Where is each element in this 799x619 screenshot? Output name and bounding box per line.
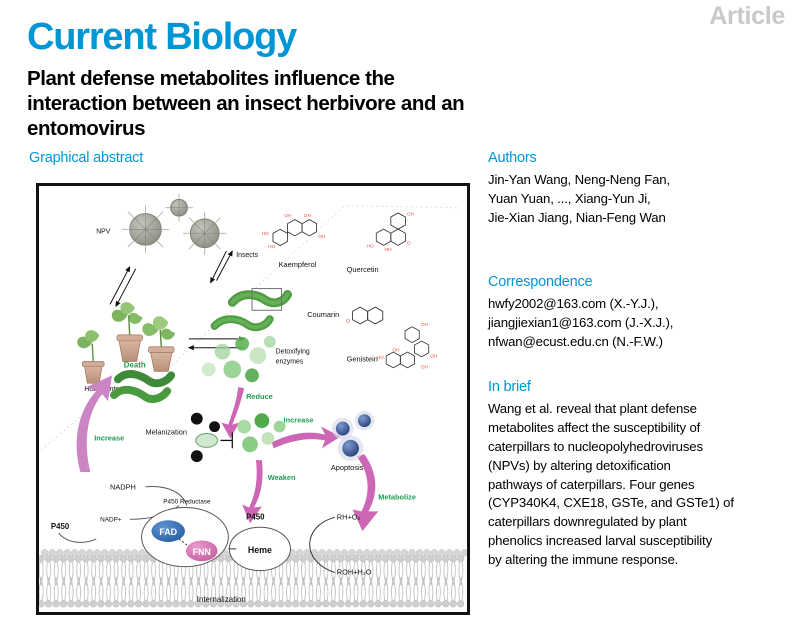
svg-text:OH: OH xyxy=(384,247,392,253)
figure-label-substrate-in: RH+O₂ xyxy=(337,512,361,521)
figure-label-reduce: Reduce xyxy=(246,392,273,401)
in-brief-line: by altering the immune response. xyxy=(488,551,784,570)
chem-label-quercetin: Quercetin xyxy=(347,265,379,274)
chem-label-genistein: Genistein xyxy=(347,355,378,364)
p450-left-stalk xyxy=(59,533,96,542)
in-brief-line: caterpillars to nucleopolyhedroviruses xyxy=(488,438,784,457)
figure-label-p450-right: P450 xyxy=(246,512,265,521)
substrate-cycle-curve xyxy=(310,517,335,572)
center-enzyme-dots xyxy=(237,413,285,452)
graphical-abstract-figure: NPV Insects xyxy=(36,183,470,615)
figure-label-npv: NPV xyxy=(96,228,111,235)
article-type-kicker: Article xyxy=(709,2,785,31)
chem-coumarin: O xyxy=(346,307,383,325)
figure-label-insects: Insects xyxy=(236,252,258,259)
svg-text:OH: OH xyxy=(421,365,429,371)
correspondence-list: hwfy2002@163.com (X.-Y.J.), jiangjiexian… xyxy=(488,295,788,352)
chem-kaempferol: HO OH OH OH HO xyxy=(262,213,326,250)
correspondence-email[interactable]: hwfy2002@163.com (X.-Y.J.), xyxy=(488,295,788,314)
graphical-abstract-svg: NPV Insects xyxy=(39,186,467,612)
chem-quercetin: OH HO OH O xyxy=(367,211,415,253)
apoptosis-cells xyxy=(332,411,374,461)
figure-label-nadp-plus: NADP+ xyxy=(100,516,122,523)
figure-label-fnn: FNN xyxy=(193,547,211,557)
svg-text:OH: OH xyxy=(407,211,415,217)
authors-heading: Authors xyxy=(488,150,788,166)
chem-label-coumarin: Coumarin xyxy=(307,310,339,319)
correspondence-email[interactable]: jiangjiexian1@163.com (J.-X.J.), xyxy=(488,314,788,333)
figure-label-fad: FAD xyxy=(159,527,177,537)
svg-text:OH: OH xyxy=(284,213,292,219)
svg-text:HO: HO xyxy=(268,244,275,250)
detoxifying-enzyme-dots xyxy=(202,336,276,382)
arrow-increase-left xyxy=(77,375,112,472)
svg-text:HO: HO xyxy=(367,244,374,250)
in-brief-heading: In brief xyxy=(488,379,788,395)
journal-title: Current Biology xyxy=(27,18,296,56)
figure-label-detox-2: enzymes xyxy=(276,359,304,366)
in-brief-line: pathways of caterpillars. Four genes xyxy=(488,476,784,495)
figure-label-increase-right: Increase xyxy=(284,416,314,425)
svg-text:O: O xyxy=(346,319,350,325)
figure-label-metabolize: Metabolize xyxy=(378,493,416,502)
figure-label-melanization: Melanization xyxy=(146,428,187,437)
figure-label-increase-left: Increase xyxy=(94,433,124,442)
melanization-group xyxy=(191,413,232,462)
in-brief-text: Wang et al. reveal that plant defense me… xyxy=(488,400,784,570)
correspondence-heading: Correspondence xyxy=(488,274,788,290)
figure-label-apoptosis: Apoptosis xyxy=(331,463,364,472)
svg-text:OH: OH xyxy=(430,354,438,360)
figure-label-substrate-out: ROH+H₂O xyxy=(337,568,372,577)
plant-virus-arrows xyxy=(110,267,136,306)
chem-genistein-glycoside: HO OH OH OH OH xyxy=(377,322,438,371)
figure-label-p450-reductase: P450 Reductase xyxy=(163,499,211,506)
svg-text:HO: HO xyxy=(262,231,269,237)
svg-text:OH: OH xyxy=(318,234,326,240)
author-line: Jin-Yan Wang, Neng-Neng Fan, xyxy=(488,171,788,190)
author-line: Jie-Xian Jiang, Nian-Feng Wan xyxy=(488,209,788,228)
caterpillar-insects xyxy=(215,289,288,328)
figure-label-detox-1: Detoxifying xyxy=(276,349,310,356)
page-title: Plant defense metabolites influence the … xyxy=(27,66,487,142)
svg-text:OH: OH xyxy=(392,347,400,353)
figure-label-internalization: Internalization xyxy=(197,595,246,604)
in-brief-line: caterpillars downregulated by plant xyxy=(488,513,784,532)
figure-label-heme: Heme xyxy=(248,545,272,555)
in-brief-line: (NPVs) by altering detoxification xyxy=(488,457,784,476)
in-brief-line: Wang et al. reveal that plant defense xyxy=(488,400,784,419)
figure-label-weaken: Weaken xyxy=(268,473,296,482)
figure-label-death: Death xyxy=(124,360,146,369)
correspondence-email[interactable]: nfwan@ecust.edu.cn (N.-F.W.) xyxy=(488,333,788,352)
chem-label-kaempferol: Kaempferol xyxy=(279,260,317,269)
in-brief-line: phenolics increased larval susceptibilit… xyxy=(488,532,784,551)
virus-insect-arrows xyxy=(211,251,233,283)
in-brief-line: (CYP340K4, CXE18, GSTe, and GSTe1) of xyxy=(488,494,784,513)
figure-label-p450-left: P450 xyxy=(51,522,70,531)
graphical-abstract-heading: Graphical abstract xyxy=(29,150,143,166)
svg-text:O: O xyxy=(407,240,411,246)
npv-virion-cluster xyxy=(122,194,227,255)
svg-text:OH: OH xyxy=(304,213,312,219)
in-brief-line: metabolites affect the susceptibility of xyxy=(488,419,784,438)
dead-caterpillars xyxy=(114,374,171,399)
figure-label-nadph: NADPH xyxy=(110,483,136,492)
author-line: Yuan Yuan, ..., Xiang-Yun Ji, xyxy=(488,190,788,209)
svg-text:OH: OH xyxy=(421,322,429,328)
authors-list: Jin-Yan Wang, Neng-Neng Fan, Yuan Yuan, … xyxy=(488,171,788,228)
